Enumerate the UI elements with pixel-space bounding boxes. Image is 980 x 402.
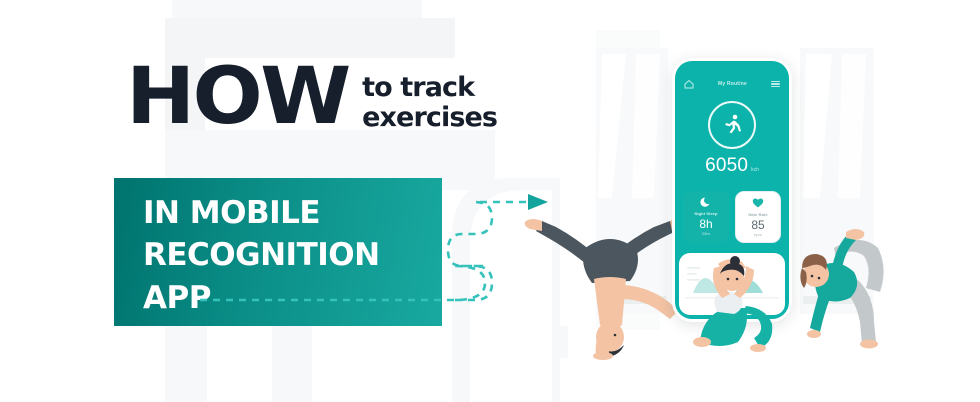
headline-how: HOW xyxy=(126,66,349,130)
stat-card-night-sleep[interactable]: Night Sleep 8h 05m xyxy=(683,191,729,243)
headline-subtitle-line2: exercises xyxy=(362,103,497,133)
heart-icon xyxy=(752,197,764,209)
dashed-arrow-path xyxy=(200,178,560,318)
stat-sub-night-sleep: 05m xyxy=(702,231,710,236)
phone-notch xyxy=(712,61,752,70)
steps-unit: kch xyxy=(751,167,759,173)
app-top-bar: My Routine xyxy=(675,77,789,91)
stat-cards: Night Sleep 8h 05m Hate Rate 85 bpm xyxy=(683,191,781,243)
running-person-icon xyxy=(720,113,744,137)
stat-value-heart-rate: 85 xyxy=(751,218,764,232)
hamburger-menu-icon[interactable] xyxy=(771,81,780,88)
stat-label-heart-rate: Hate Rate xyxy=(748,212,767,217)
activity-ring xyxy=(708,101,756,149)
figure-seated-yoga-woman xyxy=(684,250,794,358)
steps-value: 6050 xyxy=(705,155,748,177)
headline-subtitle-line1: to track xyxy=(362,73,497,103)
page-title: HOW to track exercises xyxy=(126,66,497,133)
stat-sub-heart-rate: bpm xyxy=(754,232,762,237)
moon-icon xyxy=(700,196,712,208)
stat-value-night-sleep: 8h xyxy=(699,217,712,231)
home-icon[interactable] xyxy=(684,79,694,89)
steps-readout: 6050 kch xyxy=(675,155,789,177)
app-title: My Routine xyxy=(718,81,747,87)
stat-card-heart-rate[interactable]: Hate Rate 85 bpm xyxy=(735,191,781,243)
stat-label-night-sleep: Night Sleep xyxy=(694,211,717,216)
figure-standing-split-woman xyxy=(792,210,912,360)
headline-subtitle: to track exercises xyxy=(362,73,497,133)
poster-canvas: HOW to track exercises IN MOBILE RECOGNI… xyxy=(0,0,980,402)
